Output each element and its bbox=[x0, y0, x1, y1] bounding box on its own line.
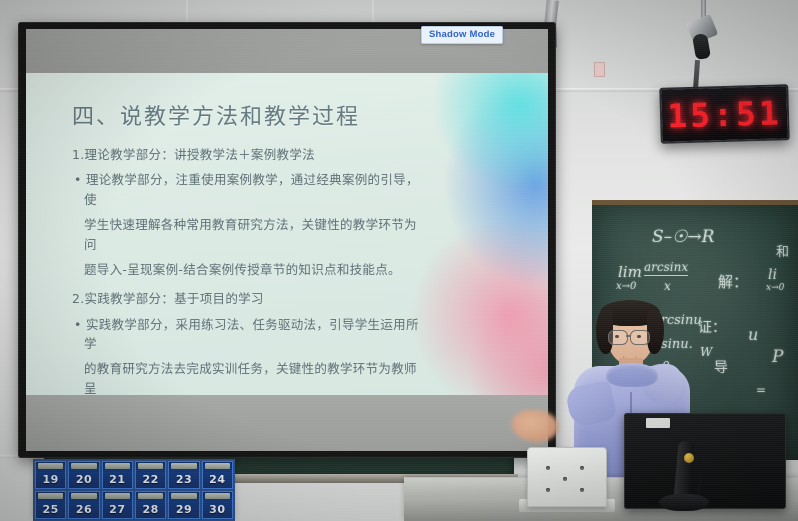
glasses-icon bbox=[608, 330, 628, 345]
slide-line: • 实践教学部分，采用练习法、任务驱动法，引导学生运用所学 bbox=[72, 315, 428, 354]
pocket-lip bbox=[38, 493, 63, 499]
storage-pocket[interactable]: 20 bbox=[68, 461, 99, 489]
storage-pocket[interactable]: 23 bbox=[168, 461, 199, 489]
slide-line: 的教育研究方法去完成实训任务，关键性的教学环节为教师呈 bbox=[72, 359, 428, 395]
pocket-number: 23 bbox=[176, 473, 192, 488]
shadow-mode-badge[interactable]: Shadow Mode bbox=[421, 26, 503, 44]
storage-pocket[interactable]: 28 bbox=[135, 491, 166, 519]
storage-pocket[interactable]: 25 bbox=[35, 491, 66, 519]
glasses-icon bbox=[630, 330, 650, 345]
panel-screw-icon bbox=[546, 466, 550, 470]
chalk-note: 导 bbox=[714, 357, 728, 377]
slide-line: 题导入-呈现案例-结合案例传授章节的知识点和技能点。 bbox=[72, 260, 428, 279]
monitor-brand-label bbox=[646, 418, 670, 428]
pocket-number: 26 bbox=[76, 503, 92, 518]
storage-pocket[interactable]: 26 bbox=[68, 491, 99, 519]
teacher-jacket-collar bbox=[606, 363, 658, 387]
chalk-note: x→0 bbox=[766, 283, 784, 293]
pocket-number: 24 bbox=[209, 473, 225, 488]
panel-screw-icon bbox=[546, 488, 550, 492]
chalk-note: S–☉→R bbox=[652, 227, 714, 247]
pocket-number: 20 bbox=[76, 473, 92, 488]
storage-pocket[interactable]: 19 bbox=[35, 461, 66, 489]
storage-pocket[interactable]: 27 bbox=[102, 491, 133, 519]
monitor-arm-adjust-knob[interactable] bbox=[684, 453, 694, 463]
chalk-note: W bbox=[700, 345, 712, 359]
chalk-note: u bbox=[748, 325, 758, 344]
panel-screw-icon bbox=[580, 466, 584, 470]
storage-pocket[interactable]: 30 bbox=[202, 491, 233, 519]
pocket-number: 29 bbox=[176, 503, 192, 518]
panel-screw-icon bbox=[563, 477, 567, 481]
chalk-note: li bbox=[768, 267, 777, 283]
storage-pocket-grid: 19 20 21 22 23 24 25 26 27 28 29 30 bbox=[33, 459, 235, 521]
digital-clock: 15:51 bbox=[659, 84, 790, 144]
chalk-note: P bbox=[772, 347, 783, 367]
chalk-note: lim bbox=[618, 263, 642, 281]
pocket-lip bbox=[171, 493, 196, 499]
pocket-number: 22 bbox=[143, 473, 159, 488]
pocket-lip bbox=[205, 493, 230, 499]
pocket-number: 25 bbox=[43, 503, 59, 518]
storage-pocket[interactable]: 29 bbox=[168, 491, 199, 519]
pocket-lip bbox=[205, 463, 230, 469]
projector-screen-surface: 四、说教学方法和教学过程 1.理论教学部分：讲授教学法＋案例教学法 • 理论教学… bbox=[26, 29, 548, 451]
screenshot-stage: S–☉→R lim x→0 arcsinx x =arcsinu = sinu.… bbox=[0, 0, 798, 521]
slide-body: 四、说教学方法和教学过程 1.理论教学部分：讲授教学法＋案例教学法 • 理论教学… bbox=[26, 73, 548, 395]
pocket-lip bbox=[105, 463, 130, 469]
storage-pocket[interactable]: 24 bbox=[202, 461, 233, 489]
storage-pocket[interactable]: 21 bbox=[102, 461, 133, 489]
slide-line: 2.实践教学部分：基于项目的学习 bbox=[72, 289, 428, 308]
letterbox-bottom bbox=[26, 395, 548, 451]
pocket-lip bbox=[71, 463, 96, 469]
chalk-note: x bbox=[664, 279, 671, 293]
chalk-note: 和 bbox=[776, 241, 789, 260]
chalk-note: 证： bbox=[698, 317, 726, 337]
panel-screw-icon bbox=[580, 488, 584, 492]
equipment-panel bbox=[527, 447, 607, 507]
pocket-number: 21 bbox=[109, 473, 125, 488]
pocket-lip bbox=[171, 463, 196, 469]
wall-outlet-icon bbox=[594, 62, 605, 77]
monitor-base bbox=[659, 494, 709, 511]
clock-time: 15:51 bbox=[667, 93, 782, 135]
pocket-lip bbox=[138, 493, 163, 499]
monitor-display[interactable] bbox=[624, 413, 786, 509]
pocket-number: 28 bbox=[143, 503, 159, 518]
pocket-number: 30 bbox=[209, 503, 225, 518]
pocket-lip bbox=[105, 493, 130, 499]
slide-line: 1.理论教学部分：讲授教学法＋案例教学法 bbox=[72, 145, 428, 164]
slide-line: 学生快速理解各种常用教育研究方法，关键性的教学环节为问 bbox=[72, 215, 428, 254]
chalk-note: arcsinx bbox=[644, 260, 688, 276]
storage-pocket[interactable]: 22 bbox=[135, 461, 166, 489]
presentation-slide: 四、说教学方法和教学过程 1.理论教学部分：讲授教学法＋案例教学法 • 理论教学… bbox=[26, 73, 548, 395]
ceiling-camera-mount bbox=[684, 0, 724, 58]
chalk-note: = bbox=[756, 383, 766, 397]
chalk-note: x→0 bbox=[616, 281, 636, 292]
teacher-hair-side bbox=[647, 310, 664, 354]
pocket-number: 27 bbox=[109, 503, 125, 518]
projector-screen: 四、说教学方法和教学过程 1.理论教学部分：讲授教学法＋案例教学法 • 理论教学… bbox=[18, 22, 556, 458]
pocket-lip bbox=[38, 463, 63, 469]
pocket-number: 19 bbox=[43, 473, 59, 488]
slide-line: • 理论教学部分，注重使用案例教学，通过经典案例的引导，使 bbox=[72, 170, 428, 209]
glasses-bridge bbox=[626, 335, 631, 337]
chalk-note: 解： bbox=[718, 271, 748, 292]
pocket-lip bbox=[138, 463, 163, 469]
slide-title: 四、说教学方法和教学过程 bbox=[72, 99, 428, 131]
pocket-lip bbox=[71, 493, 96, 499]
